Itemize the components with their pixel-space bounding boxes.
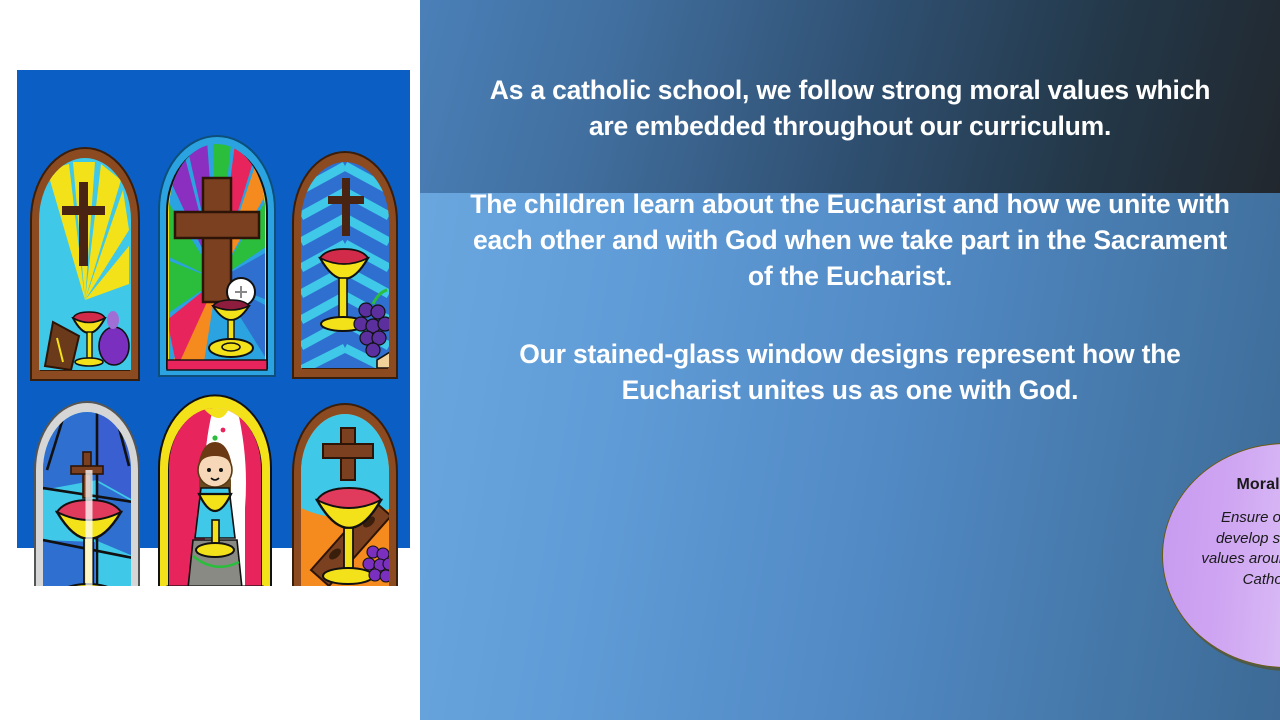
right-content-panel: As a catholic school, we follow strong m…	[420, 0, 1280, 720]
paragraph-eucharist: The children learn about the Eucharist a…	[468, 186, 1232, 294]
left-white-panel	[0, 0, 420, 720]
callout-body: Ensure our children develop strong moral…	[1200, 508, 1280, 590]
text-content-stack: As a catholic school, we follow strong m…	[420, 0, 1280, 720]
stained-glass-artwork-image	[17, 70, 410, 586]
artwork-svg	[17, 70, 410, 586]
paragraph-stained-glass: Our stained-glass window designs represe…	[468, 336, 1232, 408]
paragraph-moral-values: As a catholic school, we follow strong m…	[468, 72, 1232, 144]
callout-title: Moral Values	[1236, 476, 1280, 494]
